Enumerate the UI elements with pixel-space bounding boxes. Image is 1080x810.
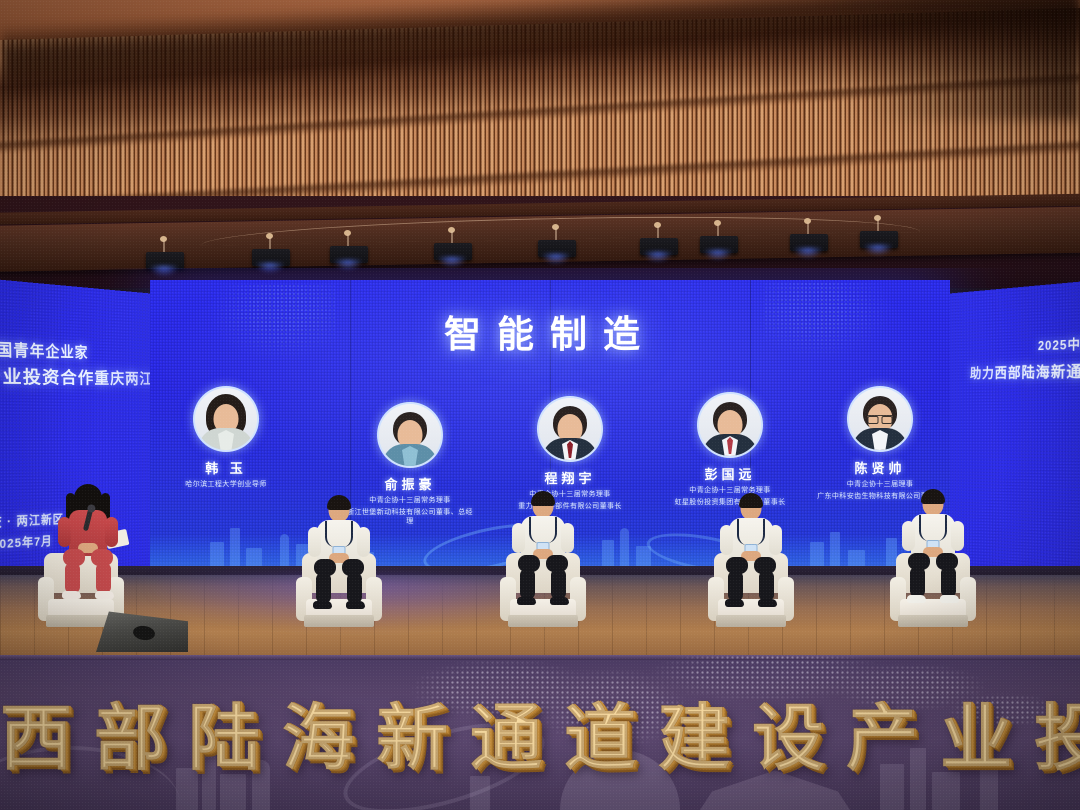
led-side-right-line2: 助力西部陆海新通道建设 — [970, 357, 1080, 382]
panelist-figure — [516, 493, 570, 613]
panelist-title-line1: 哈尔滨工程大学创业导师 — [162, 480, 290, 489]
panelist-figure — [312, 497, 366, 615]
panelist-name: 彭国远 — [666, 464, 794, 483]
panelist-portrait-card: 陈贤帅 中青企协十三届理事 广东中科安齿生物科技有限公司董事长 — [816, 386, 944, 501]
panelist-name: 韩 玉 — [162, 458, 290, 477]
panelist-avatar — [193, 386, 259, 452]
stage-light-icon — [860, 231, 898, 257]
panelist-avatar — [377, 402, 443, 468]
lanyard — [325, 521, 353, 547]
conference-stage-photo: 中国青年企业家 建设产业投资合作重庆两江行活动 庆 · 两江新区 2025年7月… — [0, 0, 1080, 810]
slatted-wood-ceiling — [0, 0, 1080, 215]
lanyard — [919, 515, 947, 541]
stage-light-icon — [700, 236, 738, 262]
panelist-figure — [724, 495, 778, 613]
lanyard — [529, 517, 557, 543]
led-side-right-line1: 2025中国 — [1038, 334, 1080, 355]
panelist-name: 俞振豪 — [346, 474, 474, 493]
panelist-name: 程翔宇 — [506, 468, 634, 487]
stage-light-icon — [538, 240, 576, 266]
panelist-portrait-card: 彭国远 中青企协十三届常务理事 虹星股份投资集团有限公司董事长 — [666, 392, 794, 507]
panelist-title-line1: 中青企协十三届常务理事 — [666, 486, 794, 495]
led-corner-date: 2025年7月 — [0, 532, 52, 554]
panelist-avatar — [537, 396, 603, 462]
panelist-portrait-card: 韩 玉 哈尔滨工程大学创业导师 — [162, 386, 290, 492]
stage-light-icon — [640, 238, 678, 264]
moderator-figure — [62, 487, 114, 607]
lanyard — [737, 519, 765, 545]
panelist-figure — [906, 491, 960, 611]
panelist-avatar — [847, 386, 913, 452]
panelist-name: 陈贤帅 — [816, 458, 944, 477]
banner-title-text: 西部陆海新通道建设产业投资 — [0, 679, 1080, 784]
led-corner-place: 庆 · 两江新区 — [0, 510, 64, 532]
led-main-title: 智能制造 — [150, 304, 950, 358]
speaker-grill-icon — [132, 624, 156, 641]
panelist-title-line1: 中青企协十三届理事 — [816, 480, 944, 489]
led-side-left-line1: 中国青年企业家 — [0, 337, 89, 363]
ceiling-shadow-right — [750, 0, 1080, 120]
stage-light-icon — [790, 234, 828, 260]
led-panel-right: 2025中国 助力西部陆海新通道建设 — [944, 281, 1080, 580]
panelist-avatar — [697, 392, 763, 458]
bottom-event-banner: 西部陆海新通道建设产业投资 — [0, 655, 1080, 810]
stage-light-icon — [434, 243, 472, 269]
